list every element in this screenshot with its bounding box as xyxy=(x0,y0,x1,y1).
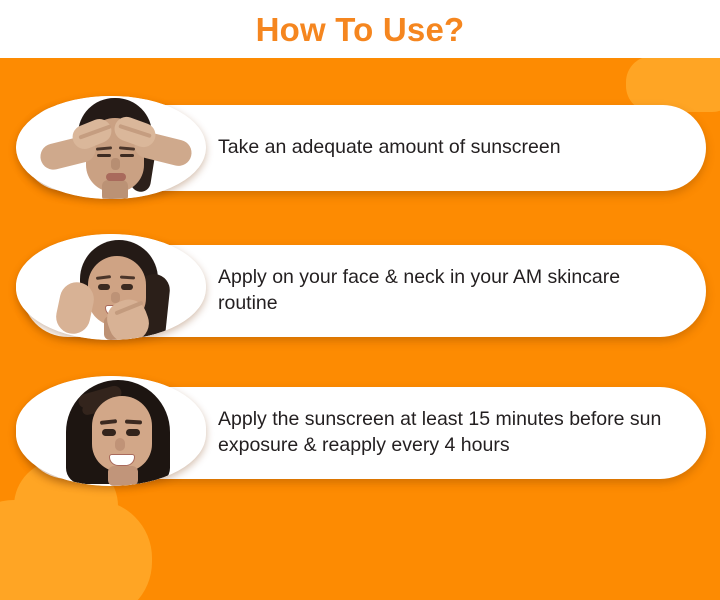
smiling-woman-with-braided-hair-photo xyxy=(16,376,206,486)
step-1-photo xyxy=(16,96,206,199)
orange-canvas: Take an adequate amount of sunscreen xyxy=(0,58,720,600)
step-1-text: Take an adequate amount of sunscreen xyxy=(218,135,589,161)
woman-applying-cream-to-cheek-photo xyxy=(16,234,206,340)
step-3-text: Apply the sunscreen at least 15 minutes … xyxy=(218,407,706,458)
step-3-photo xyxy=(16,376,206,486)
bottom-left-rounded-blob-wide xyxy=(0,500,152,600)
step-2-text: Apply on your face & neck in your AM ski… xyxy=(218,265,706,316)
how-to-use-infographic: How To Use? Take an adequate amount of s… xyxy=(0,0,720,600)
step-3-photo-frame xyxy=(16,376,206,486)
woman-applying-sunscreen-to-forehead-photo xyxy=(16,96,206,199)
step-2-photo-frame xyxy=(16,234,206,340)
top-right-rounded-blob xyxy=(626,58,720,112)
step-2-photo xyxy=(16,234,206,340)
page-title: How To Use? xyxy=(256,13,465,46)
step-1-photo-frame xyxy=(16,96,206,199)
header-band: How To Use? xyxy=(0,0,720,58)
